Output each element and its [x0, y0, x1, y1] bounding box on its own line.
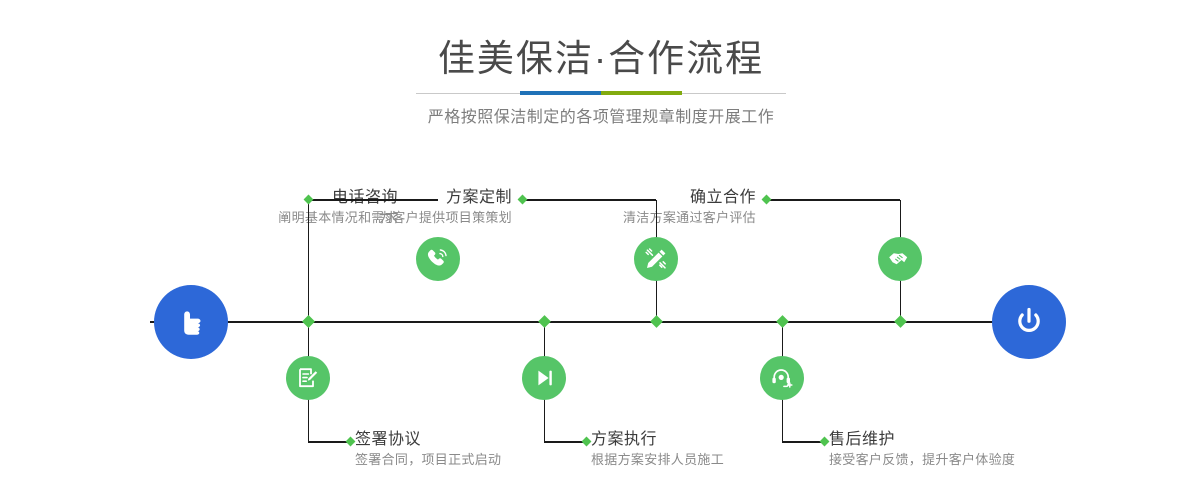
connector-horizontal	[544, 441, 586, 443]
step-title: 售后维护	[829, 430, 1189, 450]
pointing-hand-icon	[171, 302, 211, 342]
phone-call-icon	[425, 246, 451, 272]
customer-support-icon	[769, 365, 795, 391]
step-icon-phone-call	[416, 237, 460, 281]
pencil-ruler-icon	[643, 246, 669, 272]
step-desc: 清洁方案通过客户评估	[548, 208, 756, 228]
step-desc: 为客户提供项目策策划	[300, 208, 512, 228]
sign-document-icon	[295, 365, 321, 391]
divider-segment-blue	[520, 91, 601, 95]
axis-marker	[894, 315, 907, 328]
step-label-3: 方案定制 为客户提供项目策策划	[300, 188, 512, 228]
play-execute-icon	[531, 365, 557, 391]
connector-horizontal	[522, 199, 656, 201]
axis-marker	[302, 315, 315, 328]
step-icon-play-execute	[522, 356, 566, 400]
connector-horizontal	[308, 441, 350, 443]
step-desc: 接受客户反馈，提升客户体验度	[829, 450, 1189, 470]
step-icon-customer-support	[760, 356, 804, 400]
process-flow-infographic: 佳美保洁·合作流程 严格按照保洁制定的各项管理规章制度开展工作	[0, 0, 1202, 502]
handshake-icon	[887, 246, 913, 272]
axis-marker	[538, 315, 551, 328]
power-icon	[1009, 302, 1049, 342]
timeline-axis	[150, 321, 1052, 323]
step-label-5: 确立合作 清洁方案通过客户评估	[548, 188, 756, 228]
connector-horizontal	[782, 441, 824, 443]
label-marker	[762, 195, 772, 205]
axis-marker	[650, 315, 663, 328]
step-icon-sign-document	[286, 356, 330, 400]
page-title: 佳美保洁·合作流程	[0, 37, 1202, 81]
connector-horizontal	[766, 199, 900, 201]
step-icon-pencil-ruler	[634, 237, 678, 281]
step-title: 方案定制	[300, 188, 512, 208]
divider-segment-green	[601, 91, 682, 95]
page-subtitle: 严格按照保洁制定的各项管理规章制度开展工作	[0, 106, 1202, 130]
label-marker	[518, 195, 528, 205]
connector-horizontal	[308, 199, 438, 201]
step-title: 确立合作	[548, 188, 756, 208]
step-label-6: 售后维护 接受客户反馈，提升客户体验度	[829, 430, 1189, 470]
flow-end-node	[992, 285, 1066, 359]
step-icon-handshake	[878, 237, 922, 281]
label-marker	[346, 437, 356, 447]
flow-start-node	[154, 285, 228, 359]
axis-marker	[776, 315, 789, 328]
title-divider	[416, 91, 786, 95]
connector-vertical	[308, 200, 310, 322]
